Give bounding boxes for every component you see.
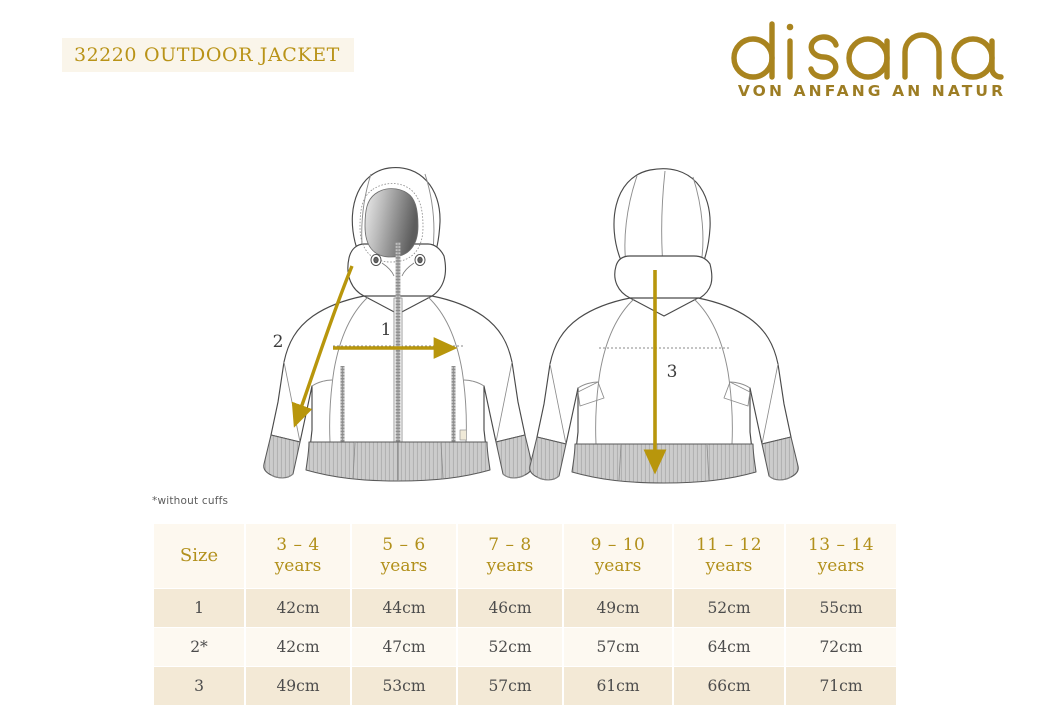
cell-r0-c5: 55cm [786,589,896,627]
row-label-2: 2* [154,628,244,666]
cell-r1-c4: 64cm [674,628,784,666]
cell-r2-c2: 57cm [458,667,562,705]
page-title: OUTDOOR JACKET [144,44,340,66]
disana-logo [726,18,1018,80]
column-header-age-4: 11 – 12 years [674,524,784,588]
cell-r1-c1: 47cm [352,628,456,666]
column-header-age-2: 7 – 8 years [458,524,562,588]
cell-r1-c5: 72cm [786,628,896,666]
column-header-age-1: 5 – 6 years [352,524,456,588]
table-row: 3 49cm 53cm 57cm 61cm 66cm 71cm [154,667,896,705]
column-header-age-5: 13 – 14 years [786,524,896,588]
table-row: 2* 42cm 47cm 52cm 57cm 64cm 72cm [154,628,896,666]
logo-i-dot [787,24,794,31]
column-header-age-3: 9 – 10 years [564,524,672,588]
cell-r1-c0: 42cm [246,628,350,666]
brand-block: VON ANFANG AN NATUR [726,18,1018,100]
measure-label-1: 1 [381,320,392,340]
cell-r2-c1: 53cm [352,667,456,705]
size-chart-header-row: Size 3 – 4 years 5 – 6 years 7 – 8 years… [154,524,896,588]
measure-label-3: 3 [667,362,678,382]
cell-r0-c1: 44cm [352,589,456,627]
size-chart-table: Size 3 – 4 years 5 – 6 years 7 – 8 years… [152,523,898,706]
row-label-1: 1 [154,589,244,627]
cell-r0-c3: 49cm [564,589,672,627]
column-header-size: Size [154,524,244,588]
cell-r0-c4: 52cm [674,589,784,627]
article-number: 32220 [74,44,137,66]
column-header-age-0: 3 – 4 years [246,524,350,588]
jacket-technical-illustration: 1 2 [0,130,1040,490]
brand-tagline: VON ANFANG AN NATUR [726,82,1018,100]
row-label-3: 3 [154,667,244,705]
cell-r0-c2: 46cm [458,589,562,627]
cell-r1-c2: 52cm [458,628,562,666]
cell-r2-c5: 71cm [786,667,896,705]
cell-r1-c3: 57cm [564,628,672,666]
measure-label-2: 2 [273,332,284,352]
page-header: 32220 OUTDOOR JACKET [0,0,1040,120]
table-footnote: *without cuffs [152,495,228,507]
cell-r2-c3: 61cm [564,667,672,705]
table-row: 1 42cm 44cm 46cm 49cm 52cm 55cm [154,589,896,627]
cell-r2-c4: 66cm [674,667,784,705]
back-jacket-view [530,169,798,483]
front-jacket-view [264,168,532,481]
product-title-badge: 32220 OUTDOOR JACKET [62,38,354,72]
cell-r0-c0: 42cm [246,589,350,627]
cell-r2-c0: 49cm [246,667,350,705]
